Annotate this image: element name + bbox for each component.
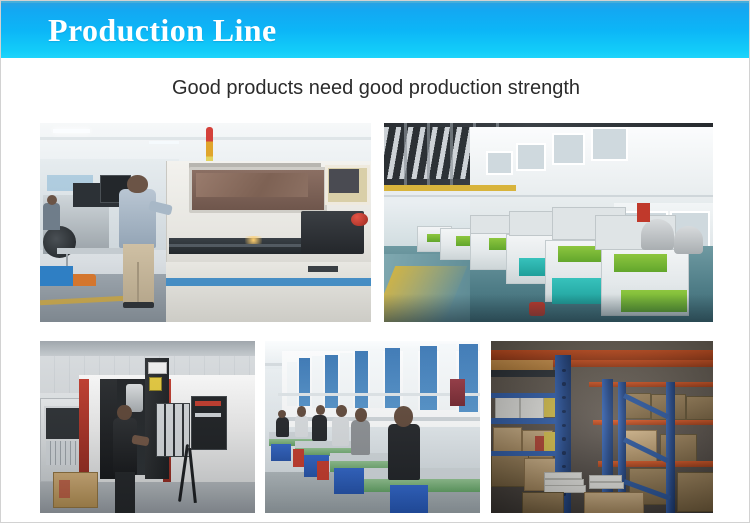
page-title: Production Line (48, 8, 277, 52)
photo-smt-production-machine (40, 123, 371, 322)
header-bar: Production Line (1, 1, 750, 58)
production-line-banner: Production Line Good products need good … (0, 0, 750, 523)
photo-warehouse-storage-racking (491, 341, 713, 513)
photo-assembly-line-workshop (265, 341, 480, 513)
photo-injection-molding-workshop (384, 123, 713, 322)
photo-cnc-machining-center (40, 341, 255, 513)
subtitle-text: Good products need good production stren… (1, 73, 750, 103)
